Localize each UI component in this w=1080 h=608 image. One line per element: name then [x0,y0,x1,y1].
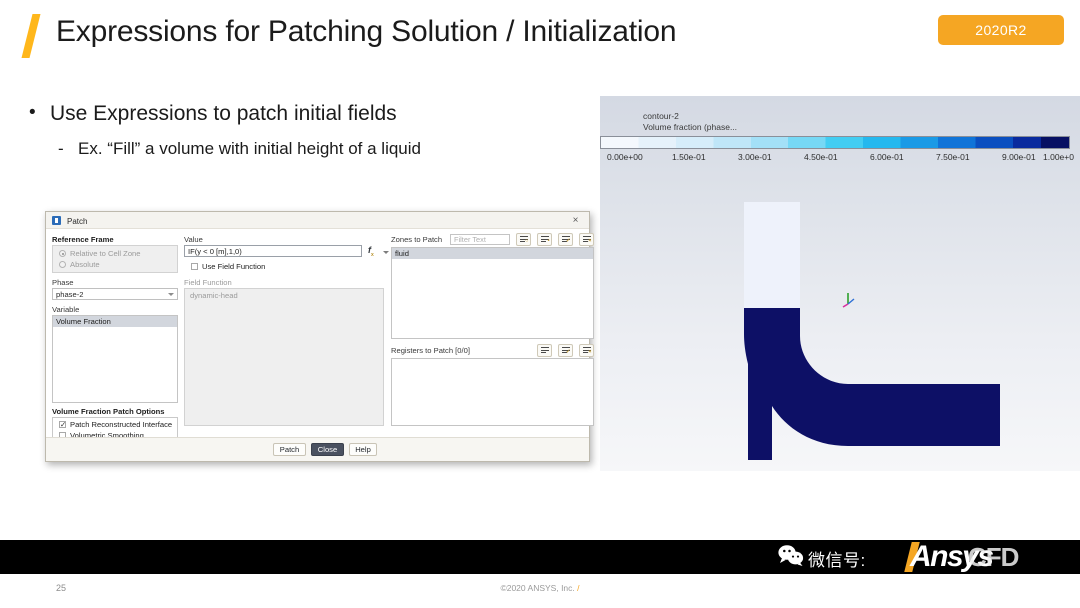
zones-to-patch-listbox[interactable]: fluid [391,247,594,339]
cross-glyph: × [588,350,591,356]
phase-combobox[interactable]: phase-2 [52,288,178,300]
value-expression-input[interactable]: IF(y < 0 [m],1,0) [184,245,362,257]
variable-listbox[interactable]: Volume Fraction [52,315,178,403]
liquid-region [744,308,1000,460]
dialog-title: Patch [67,217,87,226]
release-version-badge: 2020R2 [938,15,1064,45]
patch-button[interactable]: Patch [273,443,306,456]
slide-header: Expressions for Patching Solution / Init… [0,0,1080,72]
close-icon[interactable]: × [570,215,581,226]
close-button[interactable]: Close [311,443,344,456]
checkbox-use-field-function[interactable] [191,263,198,270]
zones-filter-icon-button[interactable]: • [537,233,552,246]
wechat-icon [778,544,804,566]
value-dropdown-arrow-icon[interactable] [383,251,389,254]
radio-absolute[interactable] [59,261,66,268]
magnifier-glyph: ○ [525,239,528,245]
copyright-slash: / [577,583,579,593]
radio-absolute-label: Absolute [70,260,100,269]
copyright-text: ©2020 ANSYS, Inc. [500,583,574,593]
zones-deselect-all-icon-button[interactable]: × [579,233,594,246]
zones-list-item-selected[interactable]: fluid [392,248,593,259]
field-function-listbox[interactable] [184,288,384,426]
list-lines-icon [541,347,549,355]
checkbox-patch-reconstructed-interface[interactable] [59,421,66,428]
value-label: Value [184,235,203,244]
application-icon [52,216,61,225]
field-function-label: Field Function [184,278,232,287]
watermark-overlay-text: CFD [968,542,1018,573]
cfd-viewport[interactable]: contour-2 Volume fraction (phase... 0.00… [600,96,1080,471]
registers-select-all-icon-button[interactable]: ✓ [558,344,573,357]
contour-geometry [600,96,1080,471]
zones-search-icon-button[interactable]: ○ [516,233,531,246]
vapor-region [744,202,800,308]
bullet-level2: Ex. “Fill” a volume with initial height … [26,137,526,161]
reference-frame-label: Reference Frame [52,235,114,244]
expression-fx-button[interactable]: fx [368,245,374,258]
phase-label: Phase [52,278,74,287]
page-title: Expressions for Patching Solution / Init… [56,15,676,49]
registers-deselect-all-icon-button[interactable]: × [579,344,594,357]
registers-to-patch-listbox[interactable] [391,358,594,426]
dot-glyph: • [548,239,550,245]
axis-triad-icon [840,290,856,308]
field-function-item: dynamic-head [190,291,238,300]
zones-select-all-icon-button[interactable]: ✓ [558,233,573,246]
checkbox-use-field-function-label: Use Field Function [202,262,265,271]
dialog-titlebar[interactable]: Patch × [46,212,589,229]
wechat-label: 微信号: [808,546,866,571]
registers-to-patch-label: Registers to Patch [0/0] [391,346,470,355]
dialog-body: Reference Frame Relative to Cell Zone Ab… [46,229,589,443]
dialog-footer: Patch Close Help [46,437,589,461]
radio-relative-to-cell-zone-label: Relative to Cell Zone [70,249,141,258]
check-glyph: ✓ [566,239,571,245]
zones-to-patch-label: Zones to Patch [391,235,442,244]
registers-filter-icon-button[interactable] [537,344,552,357]
variable-list-item-selected[interactable]: Volume Fraction [53,316,177,327]
radio-relative-to-cell-zone[interactable] [59,250,66,257]
chevron-down-icon [168,293,174,296]
bullet-list: Use Expressions to patch initial fields … [26,100,526,161]
variable-label: Variable [52,305,79,314]
phase-combobox-value: phase-2 [56,290,83,299]
volume-fraction-options-label: Volume Fraction Patch Options [52,407,165,416]
patch-dialog[interactable]: Patch × Reference Frame Relative to Cell… [45,211,590,462]
copyright-notice: ©2020 ANSYS, Inc. / [0,583,1080,593]
cross-glyph: × [588,239,591,245]
zones-filter-input[interactable]: Filter Text [450,234,510,245]
bullet-level1: Use Expressions to patch initial fields [26,100,526,128]
check-glyph: ✓ [566,350,571,356]
help-button[interactable]: Help [349,443,377,456]
checkbox-patch-reconstructed-interface-label: Patch Reconstructed Interface [70,420,172,429]
